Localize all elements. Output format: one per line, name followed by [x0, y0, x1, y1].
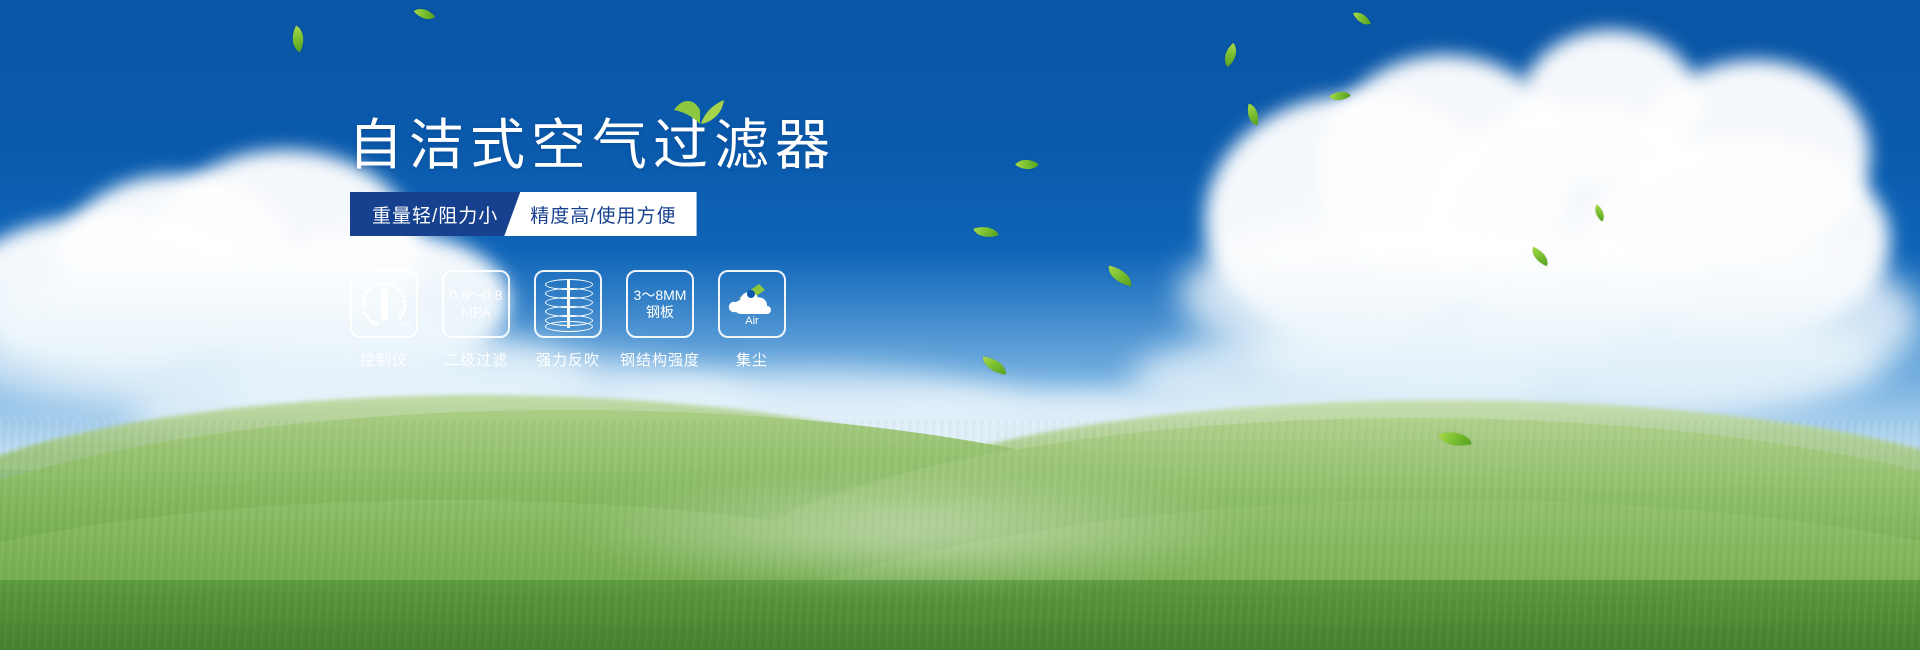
dial-needle: [381, 287, 388, 321]
feature-label: 钢结构强度: [620, 349, 700, 370]
feature-item-backblow[interactable]: 强力反吹: [534, 270, 602, 370]
dial-tick: [371, 320, 374, 323]
feature-item-steel-strength[interactable]: 3～8MM 钢板 钢结构强度: [626, 270, 694, 370]
dial-tick: [375, 322, 378, 325]
dial-tick: [403, 304, 406, 307]
coil-ring: [545, 321, 593, 332]
feature-icon-row: NO OFF 控制仪 0.6～0.8 MPA 二级过滤: [350, 270, 786, 370]
dial-tick: [371, 285, 374, 288]
dial-tick: [379, 282, 382, 285]
feature-tabs: 重量轻/阻力小 精度高/使用方便: [350, 192, 697, 236]
feature-icon-box: 0.6～0.8 MPA: [442, 270, 510, 338]
dial-tick: [363, 294, 366, 297]
dial-tick: [375, 283, 378, 286]
feature-item-filtration[interactable]: 0.6～0.8 MPA 二级过滤: [442, 270, 510, 370]
hero-banner: 自洁式空气过滤器 重量轻/阻力小 精度高/使用方便 NO OFF 控制仪: [0, 0, 1920, 650]
tab-weight-resistance[interactable]: 重量轻/阻力小: [350, 192, 520, 236]
feature-label: 二级过滤: [444, 349, 508, 370]
feature-icon-box: NO OFF: [350, 270, 418, 338]
dial-tick: [401, 292, 404, 295]
dial-tick: [403, 300, 406, 303]
dial-tick: [402, 308, 405, 311]
dial-tick: [362, 298, 365, 301]
dial-tick: [402, 296, 405, 299]
feature-icon-box: [534, 270, 602, 338]
air-label: Air: [725, 315, 779, 329]
tab-precision-convenience[interactable]: 精度高/使用方便: [504, 192, 696, 236]
feature-label: 集尘: [736, 349, 768, 370]
page-title: 自洁式空气过滤器: [348, 115, 836, 176]
dial-tick: [398, 316, 401, 319]
dial-tick: [387, 282, 390, 285]
dial-max-label: OFF: [400, 322, 411, 328]
air-cloud-icon: Air: [725, 280, 779, 328]
feature-item-controller[interactable]: NO OFF 控制仪: [350, 270, 418, 370]
dial-tick: [368, 287, 371, 290]
dial-gauge-icon: NO OFF: [358, 278, 410, 330]
banner-content: 自洁式空气过滤器 重量轻/阻力小 精度高/使用方便 NO OFF 控制仪: [0, 0, 1920, 650]
feature-item-dust-collection[interactable]: Air 集尘: [718, 270, 786, 370]
dial-tick: [362, 307, 365, 310]
feature-label: 强力反吹: [536, 349, 600, 370]
dial-tick: [365, 314, 368, 317]
filter-coil-icon: [545, 278, 591, 330]
dial-tick: [365, 290, 368, 293]
pressure-text-icon: 0.6～0.8 MPA: [450, 287, 503, 322]
dial-tick: [361, 302, 364, 305]
feature-label: 控制仪: [360, 349, 408, 370]
steel-plate-text-icon: 3～8MM 钢板: [634, 287, 687, 322]
dial-tick: [401, 312, 404, 315]
leaf-sprout-icon: [672, 90, 726, 124]
dial-tick: [383, 281, 386, 284]
feature-icon-box: 3～8MM 钢板: [626, 270, 694, 338]
feature-icon-box: Air: [718, 270, 786, 338]
